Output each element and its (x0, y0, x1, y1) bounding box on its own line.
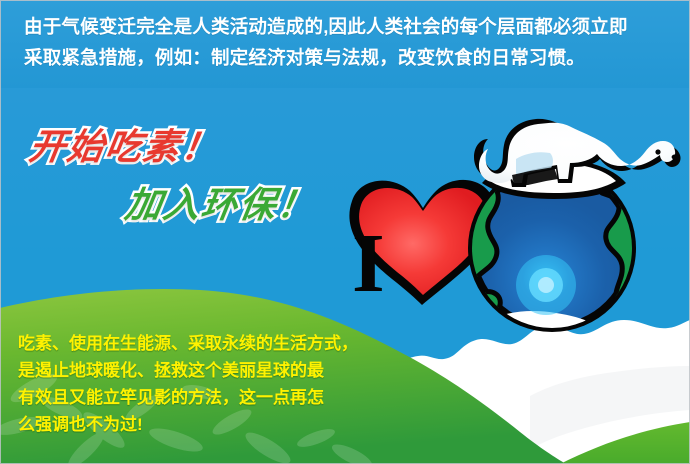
body-copy-line: 吃素、使用在生能源、采取永续的生活方式， (18, 330, 368, 357)
slogan-primary: 开始吃素！ (26, 118, 224, 170)
top-banner: 由于气候变迁完全是人类活动造成的,因此人类社会的每个层面都必须立即 采取紧急措施… (0, 0, 690, 88)
slogan-secondary: 加入环保！ (122, 176, 320, 228)
i-letter: I (352, 222, 385, 306)
body-copy-line: 有效且又能立竿见影的方法，这一点再怎 (18, 384, 368, 411)
banner-line-2: 采取紧急措施，例如：制定经济对策与法规，改变饮食的日常习惯。 (24, 44, 585, 70)
body-copy: 吃素、使用在生能源、采取永续的生活方式， 是遏止地球暖化、拯救这个美丽星球的最 … (18, 330, 368, 438)
body-copy-line: 么强调也不为过! (18, 411, 368, 438)
banner-line-1: 由于气候变迁完全是人类活动造成的,因此人类社会的每个层面都必须立即 (24, 13, 628, 39)
poster-canvas: I 由于气候变迁完全是人类活动造成的,因此人类社会的每个层面都必须立即 采取紧急… (0, 0, 690, 464)
earth-illustration (340, 105, 690, 345)
body-copy-line: 是遏止地球暖化、拯救这个美丽星球的最 (18, 357, 368, 384)
